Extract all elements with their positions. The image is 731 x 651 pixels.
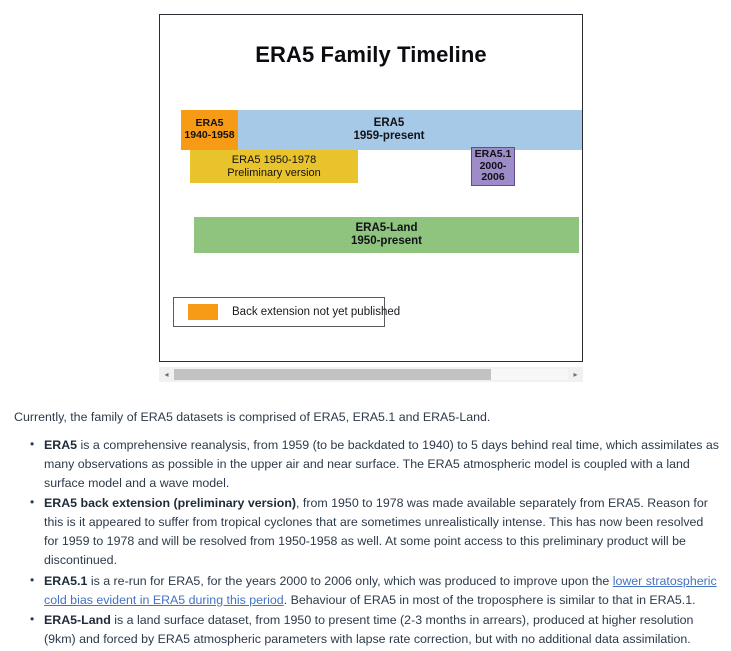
scroll-right-arrow-icon[interactable]: ▸ <box>568 367 583 382</box>
timeline-bar-era5-land: ERA5-Land 1950-present <box>194 217 579 253</box>
horizontal-scrollbar[interactable]: ◂ ▸ <box>159 367 583 382</box>
figure-viewer: ERA5 Family Timeline ERA5 1959-present E… <box>159 14 583 362</box>
chart-legend: Back extension not yet published <box>173 297 385 327</box>
timeline-bar-era5-preliminary: ERA5 1950-1978 Preliminary version <box>190 150 358 183</box>
list-item: ERA5.1 is a re-run for ERA5, for the yea… <box>44 572 720 610</box>
bar-label-line2: 1940-1958 <box>184 130 234 142</box>
dataset-description: is a re-run for ERA5, for the years 2000… <box>87 574 612 588</box>
dataset-list: ERA5 is a comprehensive reanalysis, from… <box>14 436 720 649</box>
dataset-term-era5-back-extension: ERA5 back extension (preliminary version… <box>44 496 296 510</box>
bar-label-line1: ERA5 1950-1978 <box>232 154 316 166</box>
bar-label-line3: 2006 <box>481 172 504 184</box>
bar-label-line2: Preliminary version <box>227 167 321 179</box>
bar-label-line1: ERA5.1 <box>475 149 512 161</box>
list-item: ERA5-Land is a land surface dataset, fro… <box>44 611 720 649</box>
dataset-description: is a land surface dataset, from 1950 to … <box>44 613 693 646</box>
list-item: ERA5 back extension (preliminary version… <box>44 494 720 569</box>
bar-label-line2: 1959-present <box>354 130 425 143</box>
dataset-term-era5: ERA5 <box>44 438 77 452</box>
dataset-term-era5-land: ERA5-Land <box>44 613 111 627</box>
bar-label-line1: ERA5 <box>374 117 405 130</box>
bar-label-line1: ERA5-Land <box>356 222 418 235</box>
timeline-chart: ERA5 Family Timeline ERA5 1959-present E… <box>160 15 582 361</box>
timeline-bar-era5-main: ERA5 1959-present <box>196 110 582 150</box>
bar-label-line2: 1950-present <box>351 235 422 248</box>
legend-label: Back extension not yet published <box>232 306 400 318</box>
dataset-term-era5-1: ERA5.1 <box>44 574 87 588</box>
scrollbar-track[interactable] <box>174 369 568 380</box>
timeline-bar-era5-1: ERA5.1 2000- 2006 <box>471 147 515 186</box>
chart-title: ERA5 Family Timeline <box>160 42 582 68</box>
legend-swatch-orange <box>188 304 218 320</box>
timeline-bar-era5-back-extension: ERA5 1940-1958 <box>181 110 238 150</box>
list-item: ERA5 is a comprehensive reanalysis, from… <box>44 436 720 493</box>
scrollbar-thumb[interactable] <box>174 369 491 380</box>
dataset-description: is a comprehensive reanalysis, from 1959… <box>44 438 719 490</box>
intro-paragraph: Currently, the family of ERA5 datasets i… <box>14 408 720 427</box>
scroll-left-arrow-icon[interactable]: ◂ <box>159 367 174 382</box>
article-body: Currently, the family of ERA5 datasets i… <box>14 408 720 651</box>
